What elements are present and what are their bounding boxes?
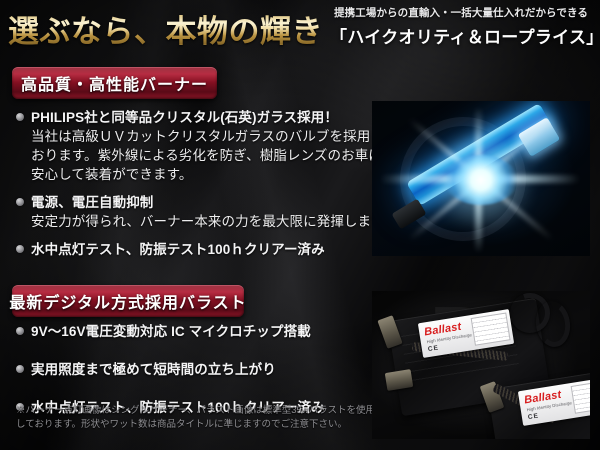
product-photo-burner [372, 101, 590, 256]
ad-banner: 選ぶなら、本物の輝き 提携工場からの直輸入・一括大量仕入れだからできる 「ハイク… [0, 0, 600, 450]
ballast-spec-table [571, 380, 590, 413]
bullet-line: 電源、電圧自動抑制 [31, 193, 397, 212]
header: 選ぶなら、本物の輝き 提携工場からの直輸入・一括大量仕入れだからできる 「ハイク… [0, 0, 600, 60]
bullet-line: おります。紫外線による劣化を防ぎ、樹脂レンズのお車にも [31, 146, 397, 165]
tagline-small: 提携工場からの直輸入・一括大量仕入れだからできる [330, 5, 592, 20]
bullet-line: 水中点灯テスト、防振テスト100ｈクリアー済み [31, 240, 344, 259]
bullet-dot-icon [16, 198, 24, 206]
bullet-dot-icon [16, 327, 24, 335]
bullet-text: 実用照度まで極めて短時間の立ち上がり [31, 360, 344, 379]
list-item: 9V〜16V電圧変動対応 IC マイクロチップ搭載 [14, 322, 344, 341]
bullet-line: 当社は高級ＵＶカットクリスタルガラスのバルブを採用して [31, 127, 397, 146]
disclaimer-line: しております。形状やワット数は商品タイトルに準じますのでご注意下さい。 [16, 418, 356, 432]
section-banner-label: 高品質・高性能バーナー [21, 71, 208, 95]
product-photo-ballast: B Ballast High Identity Discharge CE Bal… [372, 291, 590, 439]
disclaimer-line: ※バーナー点灯画像はシングルバーナー、バラスト画像は標準型35wバラストを使用 [16, 404, 356, 418]
bullet-dot-icon [16, 113, 24, 121]
burner-arc-light [444, 155, 518, 205]
tagline-big: 「ハイクオリティ＆ロープライス」 [330, 23, 592, 48]
ce-mark-icon: CE [528, 412, 540, 421]
bullet-line: 安心して装着ができます。 [31, 165, 397, 184]
bullet-text: 水中点灯テスト、防振テスト100ｈクリアー済み [31, 240, 344, 259]
tagline-block: 提携工場からの直輸入・一括大量仕入れだからできる 「ハイクオリティ＆ロープライス… [330, 5, 592, 48]
list-item: 水中点灯テスト、防振テスト100ｈクリアー済み [14, 240, 344, 259]
section-banner-burner: 高品質・高性能バーナー [12, 67, 217, 99]
list-item: 実用照度まで極めて短時間の立ち上がり [14, 360, 344, 379]
bullet-text: 9V〜16V電圧変動対応 IC マイクロチップ搭載 [31, 322, 344, 341]
ballast-spec-table [471, 312, 511, 345]
bullet-line: PHILIPS社と同等品クリスタル(石英)ガラス採用！ [31, 108, 397, 127]
bullet-line: 9V〜16V電圧変動対応 IC マイクロチップ搭載 [31, 322, 344, 341]
disclaimer: ※バーナー点灯画像はシングルバーナー、バラスト画像は標準型35wバラストを使用 … [16, 404, 356, 432]
bullet-dot-icon [16, 245, 24, 253]
page-title: 選ぶなら、本物の輝き [8, 6, 323, 51]
section-banner-ballast: 最新デジタル方式採用バラスト [12, 285, 244, 317]
bullet-list-burner: PHILIPS社と同等品クリスタル(石英)ガラス採用！ 当社は高級ＵＶカットクリ… [14, 108, 344, 268]
bullet-line: 安定力が得られ、バーナー本来の力を最大限に発揮します。 [31, 212, 397, 231]
ce-mark-icon: CE [428, 344, 440, 353]
bullet-dot-icon [16, 365, 24, 373]
section-banner-label: 最新デジタル方式採用バラスト [9, 289, 246, 313]
bullet-text: PHILIPS社と同等品クリスタル(石英)ガラス採用！ 当社は高級ＵＶカットクリ… [31, 108, 397, 184]
list-item: 電源、電圧自動抑制 安定力が得られ、バーナー本来の力を最大限に発揮します。 [14, 193, 344, 231]
bullet-line: 実用照度まで極めて短時間の立ち上がり [31, 360, 344, 379]
list-item: PHILIPS社と同等品クリスタル(石英)ガラス採用！ 当社は高級ＵＶカットクリ… [14, 108, 344, 184]
bullet-text: 電源、電圧自動抑制 安定力が得られ、バーナー本来の力を最大限に発揮します。 [31, 193, 397, 231]
